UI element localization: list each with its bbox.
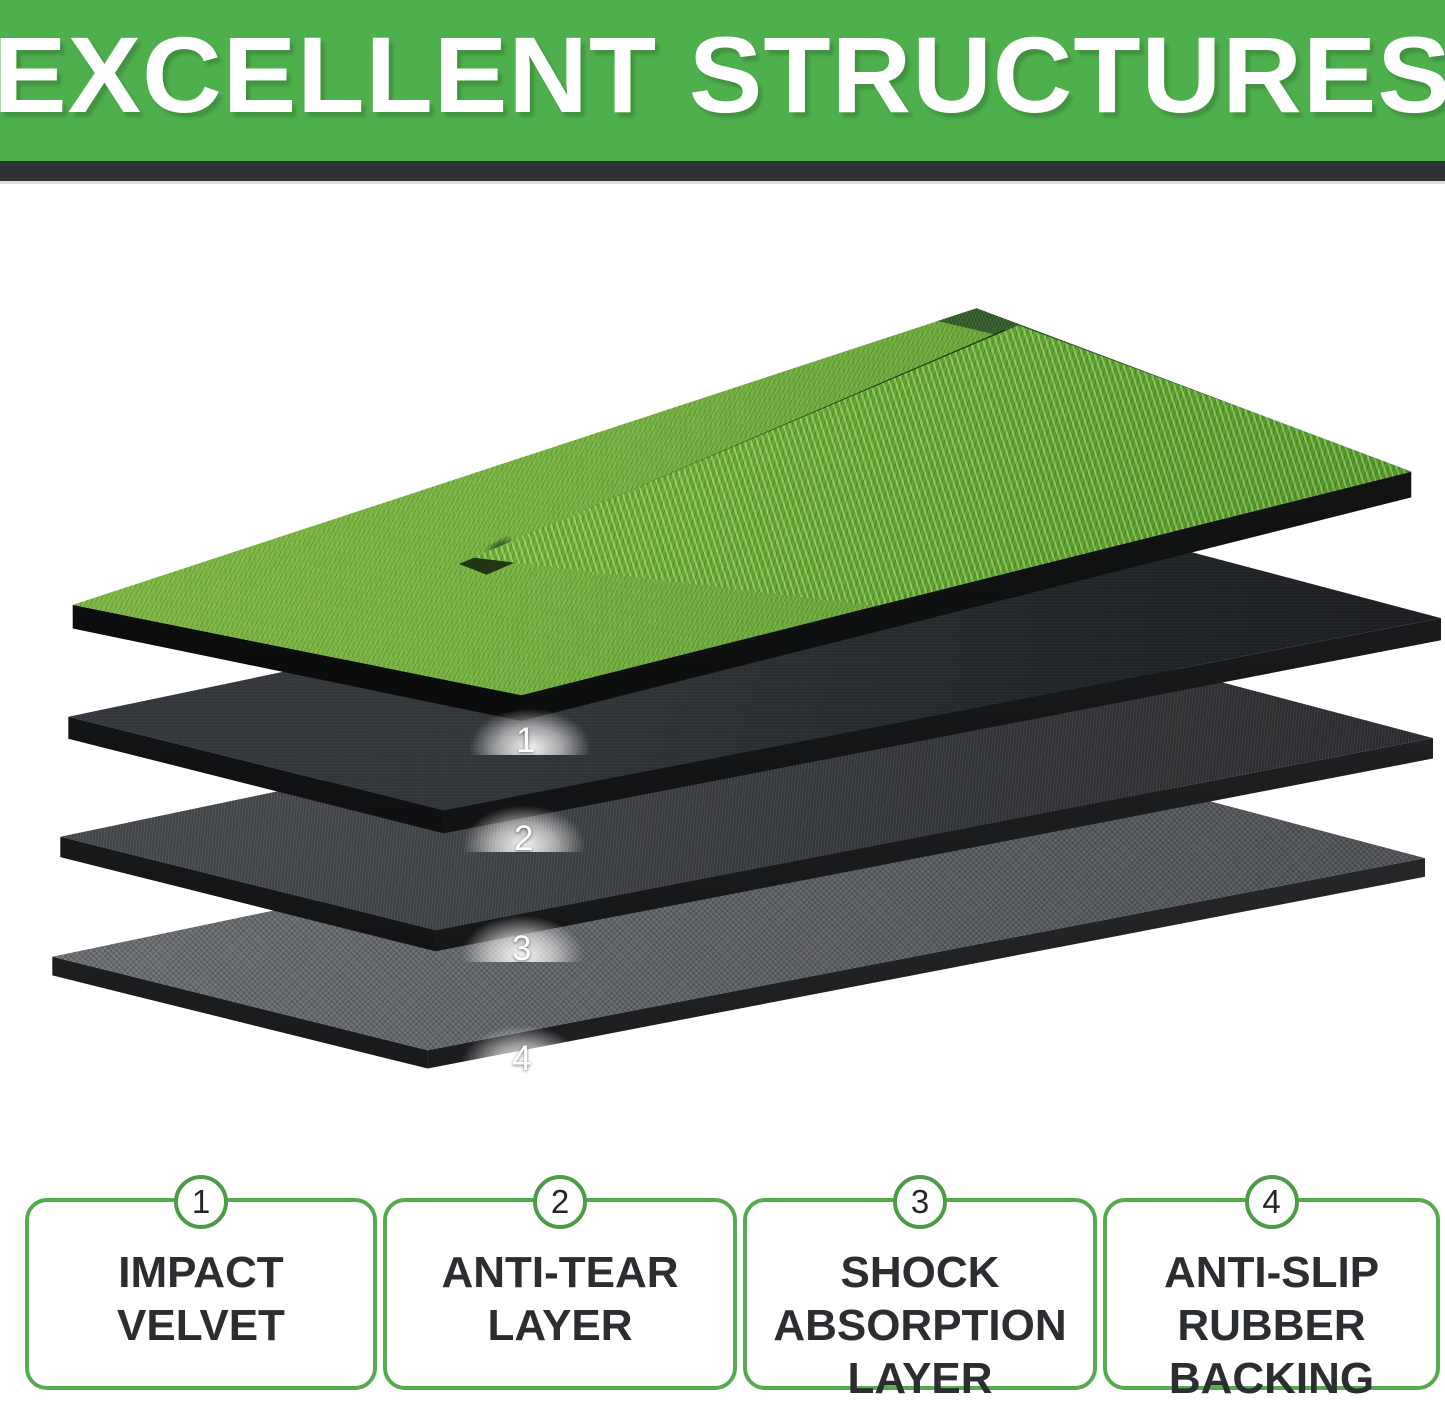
legend-badge-2: 2 <box>533 1175 587 1229</box>
legend-badge-4: 4 <box>1245 1175 1299 1229</box>
page-title: EXCELLENT STRUCTURES <box>0 10 1445 140</box>
layer-1-number: 1 <box>516 721 535 761</box>
mat-layer-1-impact-velvet-grass <box>52 291 1432 721</box>
legend-badge-1: 1 <box>174 1175 228 1229</box>
legend-box-2[interactable]: 2 ANTI-TEAR LAYER <box>383 1198 737 1390</box>
layer-2-number: 2 <box>514 819 533 859</box>
legend-label-1: IMPACT VELVET <box>35 1246 367 1352</box>
header-divider-bar <box>0 161 1445 181</box>
legend-box-1[interactable]: 1 IMPACT VELVET <box>25 1198 377 1390</box>
layer-3-number: 3 <box>512 929 531 969</box>
legend-badge-3: 3 <box>893 1175 947 1229</box>
layer-legend: 1 IMPACT VELVET 2 ANTI-TEAR LAYER 3 SHOC… <box>0 1198 1445 1397</box>
legend-box-4[interactable]: 4 ANTI-SLIP RUBBER BACKING <box>1103 1198 1440 1390</box>
legend-label-3: SHOCK ABSORPTION LAYER <box>753 1246 1087 1405</box>
product-layer-illustration: 4 3 2 1 <box>0 181 1445 1156</box>
layer-4-number: 4 <box>512 1039 531 1079</box>
header-banner: EXCELLENT STRUCTURES <box>0 0 1445 161</box>
legend-label-4: ANTI-SLIP RUBBER BACKING <box>1113 1246 1430 1405</box>
legend-box-3[interactable]: 3 SHOCK ABSORPTION LAYER <box>743 1198 1097 1390</box>
legend-label-2: ANTI-TEAR LAYER <box>393 1246 727 1352</box>
